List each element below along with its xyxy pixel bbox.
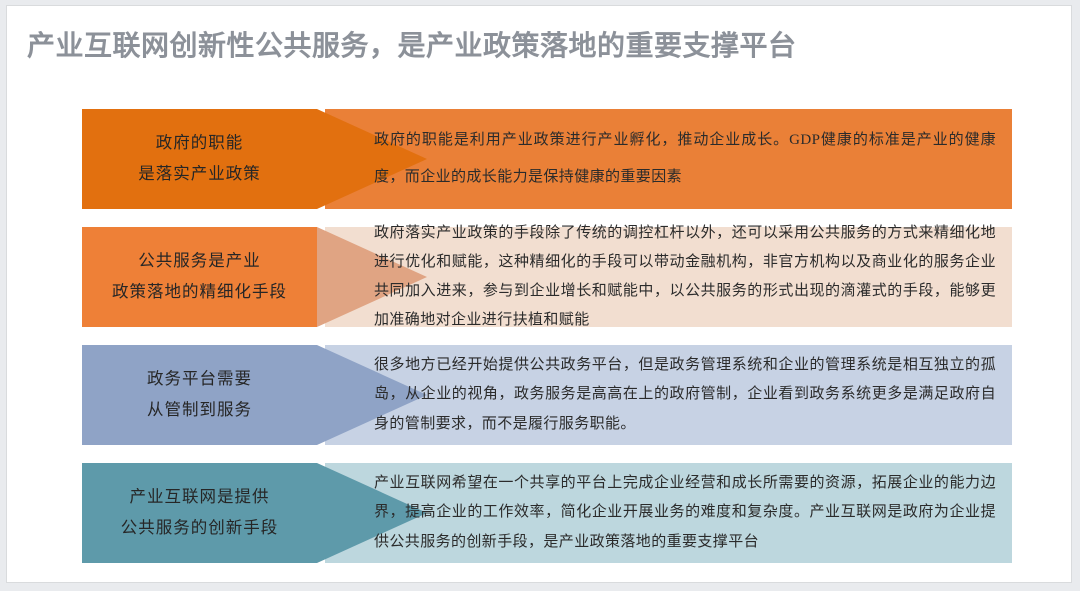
process-row-3: 政务平台需要 从管制到服务 很多地方已经开始提供公共政务平台，但是政务管理系统和… [82,345,1012,445]
slide-canvas: 产业互联网创新性公共服务，是产业政策落地的重要支撑平台 政府的职能 是落实产业政… [6,5,1072,583]
row-2-label-text: 公共服务是产业 政策落地的精细化手段 [112,246,287,307]
process-row-4: 产业互联网是提供 公共服务的创新手段 产业互联网希望在一个共享的平台上完成企业经… [82,463,1012,563]
row-3-description: 很多地方已经开始提供公共政务平台，但是政务管理系统和企业的管理系统是相互独立的孤… [374,345,996,445]
row-1-label-text: 政府的职能 是落实产业政策 [138,128,261,189]
row-3-description-text: 很多地方已经开始提供公共政务平台，但是政务管理系统和企业的管理系统是相互独立的孤… [374,351,996,439]
row-2-description-text: 政府落实产业政策的手段除了传统的调控杠杆以外，还可以采用公共服务的方式来精细化地… [374,219,996,336]
row-2-description: 政府落实产业政策的手段除了传统的调控杠杆以外，还可以采用公共服务的方式来精细化地… [374,227,996,327]
page-title: 产业互联网创新性公共服务，是产业政策落地的重要支撑平台 [27,24,1047,68]
row-4-description-text: 产业互联网希望在一个共享的平台上完成企业经营和成长所需要的资源，拓展企业的能力边… [374,469,996,557]
process-row-1: 政府的职能 是落实产业政策 政府的职能是利用产业政策进行产业孵化，推动企业成长。… [82,109,1012,209]
row-4-description: 产业互联网希望在一个共享的平台上完成企业经营和成长所需要的资源，拓展企业的能力边… [374,463,996,563]
row-3-label-text: 政务平台需要 从管制到服务 [147,364,252,425]
process-row-2: 公共服务是产业 政策落地的精细化手段 政府落实产业政策的手段除了传统的调控杠杆以… [82,227,1012,327]
row-1-description-text: 政府的职能是利用产业政策进行产业孵化，推动企业成长。GDP健康的标准是产业的健康… [374,122,996,196]
row-4-label-text: 产业互联网是提供 公共服务的创新手段 [121,482,279,543]
row-2-label-block[interactable]: 公共服务是产业 政策落地的精细化手段 [82,227,317,327]
row-1-description: 政府的职能是利用产业政策进行产业孵化，推动企业成长。GDP健康的标准是产业的健康… [374,109,996,209]
row-1-label-block[interactable]: 政府的职能 是落实产业政策 [82,109,317,209]
row-3-label-block[interactable]: 政务平台需要 从管制到服务 [82,345,317,445]
row-4-label-block[interactable]: 产业互联网是提供 公共服务的创新手段 [82,463,317,563]
